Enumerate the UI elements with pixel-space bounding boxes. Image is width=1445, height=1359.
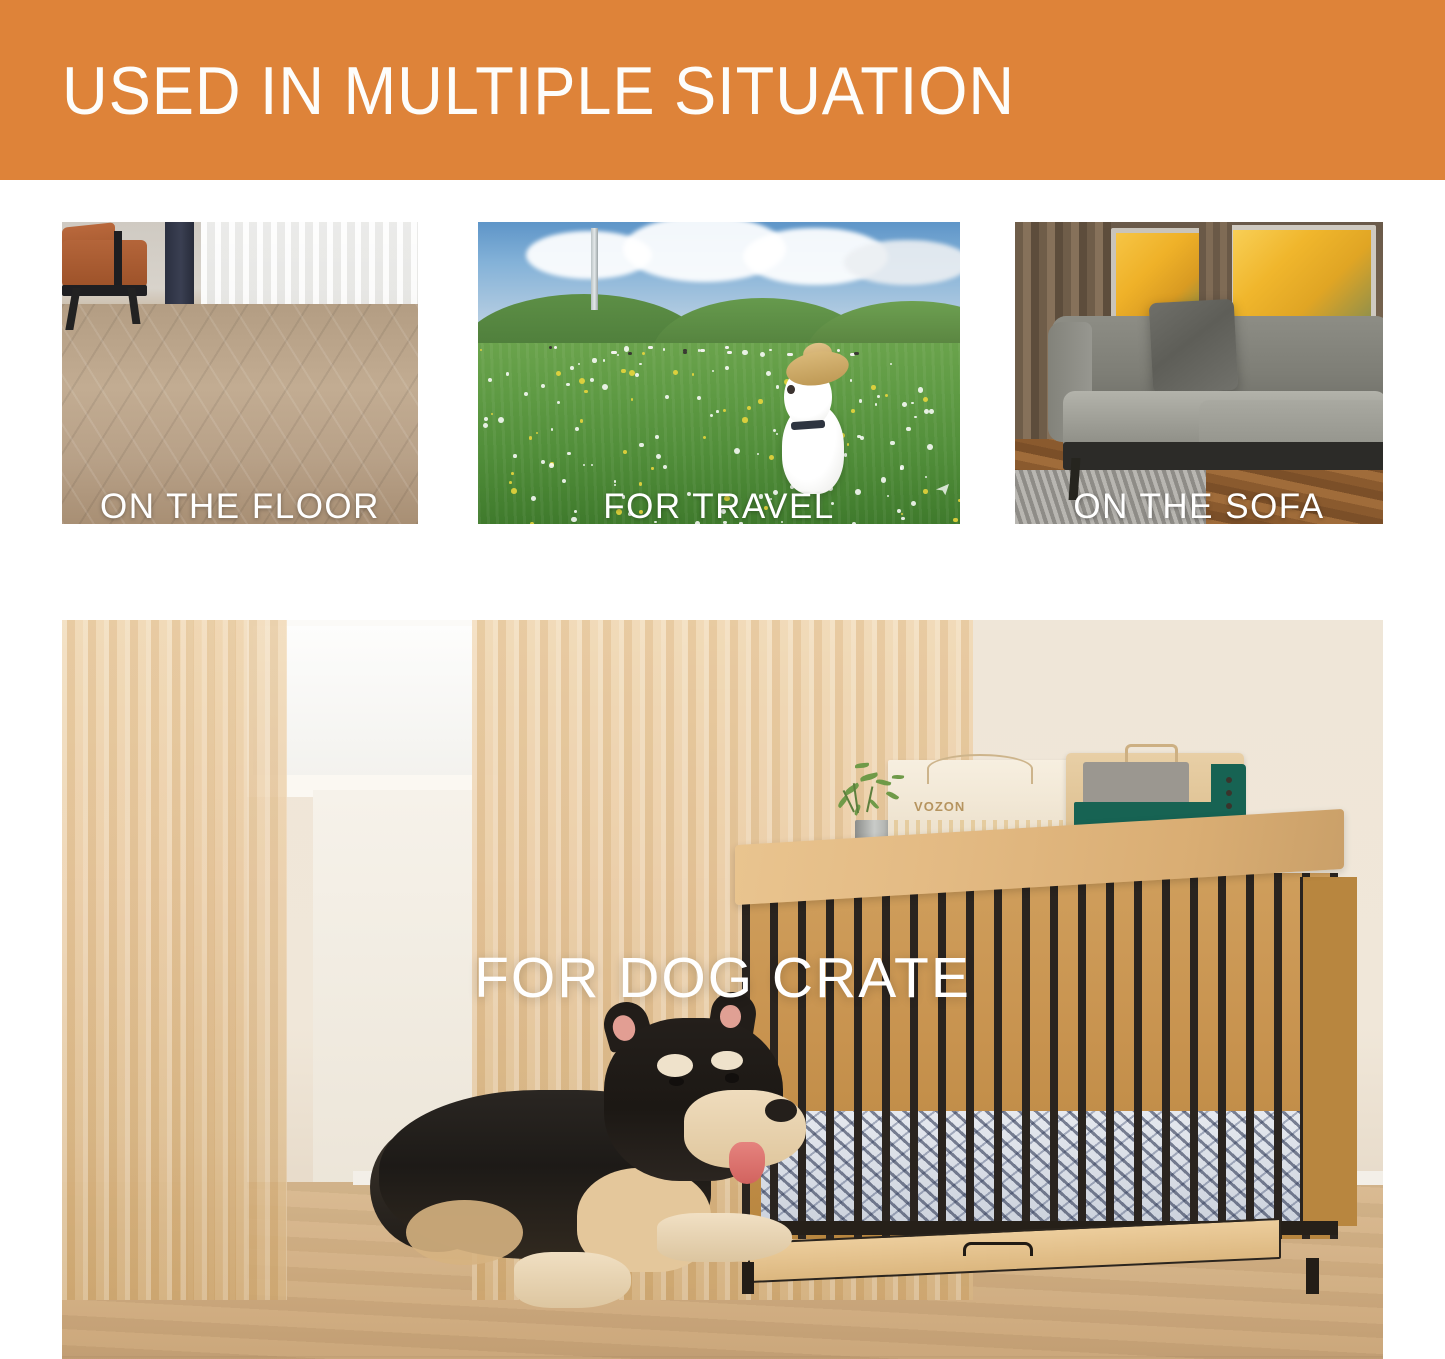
scenario-thumbnail-row: ON THE FLOOR [0,222,1445,524]
carrier-handle-icon [1125,744,1178,762]
crate-bars [742,873,1338,1240]
carrier-mesh-panel [1083,762,1189,806]
scene-image-grassland [478,222,960,524]
tray-handle-icon [963,1242,1033,1257]
thumbnail-on-the-floor: ON THE FLOOR [62,222,418,524]
scene-image-floor [62,222,418,524]
product-infographic-page: USED IN MULTIPLE SITUATION ON THE FLOOR [0,0,1445,1359]
hero-image-for-dog-crate: VOZON [62,620,1383,1359]
thumbnail-on-the-sofa: ON THE SOFA [1015,222,1383,524]
page-title: USED IN MULTIPLE SITUATION [62,52,1015,130]
thumbnail-for-travel: FOR TRAVEL [478,222,960,524]
dog-malamute [379,1012,828,1337]
thumbnail-caption: ON THE FLOOR [62,486,418,524]
gift-bag-brand-text: VOZON [914,799,965,814]
thumbnail-caption: FOR TRAVEL [478,486,960,524]
gift-bag-handle-icon [927,754,1033,784]
scene-image-sofa [1015,222,1383,524]
thumbnail-caption: ON THE SOFA [1015,486,1383,524]
hero-caption: FOR DOG CRATE [62,945,1383,1011]
header-banner: USED IN MULTIPLE SITUATION [0,0,1445,180]
